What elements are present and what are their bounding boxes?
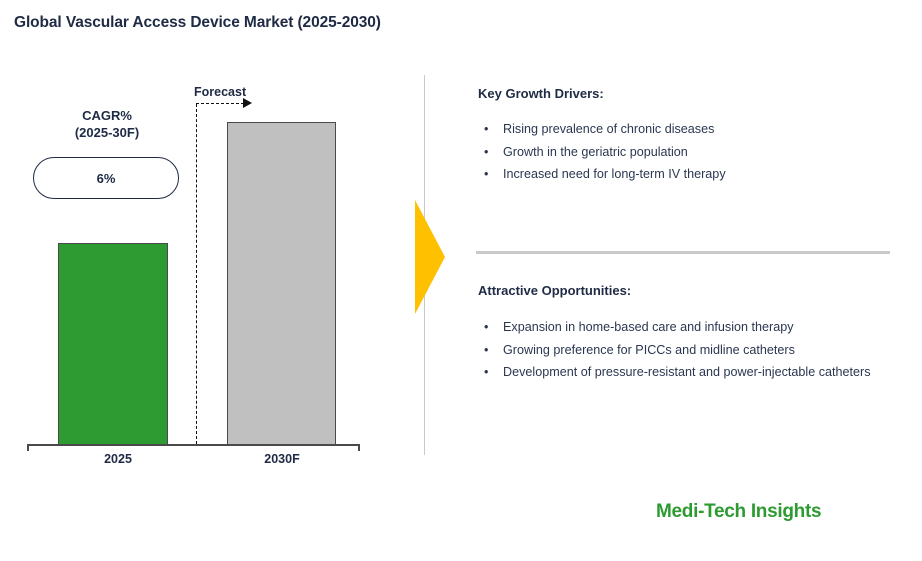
forecast-dashed-arrow-line [196,103,244,104]
bullet-icon: • [484,143,488,163]
list-item-label: Growth in the geriatric population [503,145,688,159]
attractive-opportunities-list: • Expansion in home-based care and infus… [478,318,898,383]
list-item-label: Growing preference for PICCs and midline… [503,341,898,361]
bullet-icon: • [484,341,488,361]
cagr-label: CAGR% [33,107,181,124]
list-item: • Rising prevalence of chronic diseases [478,120,898,140]
panel-separator [476,251,890,254]
cagr-badge: 6% [33,157,179,199]
x-axis-label-2025: 2025 [63,452,173,466]
brand-logo: Medi-Tech Insights [656,501,821,523]
x-axis-tick-left [27,444,29,451]
bullet-icon: • [484,318,488,338]
list-item: • Increased need for long-term IV therap… [478,165,898,185]
list-item-label: Increased need for long-term IV therapy [503,167,726,181]
forecast-arrow-icon [243,98,252,108]
cagr-period: (2025-30F) [33,124,181,141]
bullet-icon: • [484,120,488,140]
bar-chart: CAGR% (2025-30F) 6% Forecast 2025 2030F [0,0,420,500]
list-item-label: Rising prevalence of chronic diseases [503,122,714,136]
forecast-divider-dashed-line [196,104,197,444]
attractive-opportunities-section: Attractive Opportunities: • Expansion in… [478,283,898,386]
x-axis-line [27,444,360,446]
list-item: • Expansion in home-based care and infus… [478,318,898,338]
list-item: • Growing preference for PICCs and midli… [478,341,898,361]
bullet-icon: • [484,165,488,185]
key-growth-drivers-section: Key Growth Drivers: • Rising prevalence … [478,86,898,188]
slide-canvas: Global Vascular Access Device Market (20… [0,0,922,561]
bar-2030f [227,122,336,445]
x-axis-tick-right [358,444,360,451]
list-item-label: Expansion in home-based care and infusio… [503,318,898,338]
bar-2025 [58,243,168,445]
key-growth-drivers-list: • Rising prevalence of chronic diseases … [478,120,898,185]
cagr-value: 6% [97,171,116,186]
attractive-opportunities-heading: Attractive Opportunities: [478,283,898,298]
right-arrow-icon [415,200,445,314]
forecast-label: Forecast [194,85,246,99]
key-growth-drivers-heading: Key Growth Drivers: [478,86,898,101]
list-item: • Growth in the geriatric population [478,143,898,163]
cagr-label-block: CAGR% (2025-30F) [33,107,181,141]
list-item-label: Development of pressure-resistant and po… [503,363,898,383]
bullet-icon: • [484,363,488,383]
x-axis-label-2030f: 2030F [227,452,337,466]
list-item: • Development of pressure-resistant and … [478,363,898,383]
